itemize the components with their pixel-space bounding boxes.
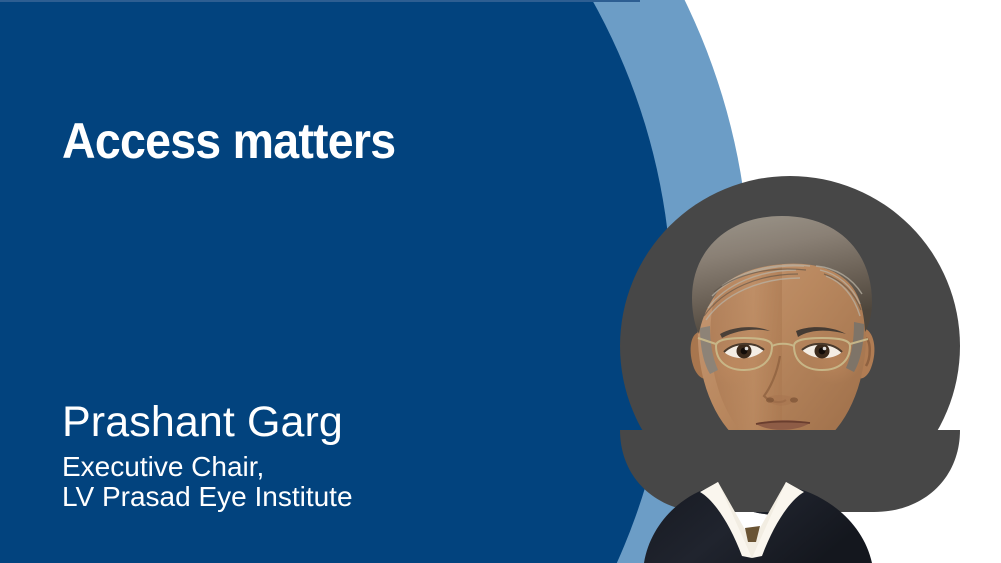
speaker-role-line-2: LV Prasad Eye Institute [62, 482, 353, 512]
page-title: Access matters [62, 112, 395, 170]
speaker-name: Prashant Garg [62, 398, 343, 447]
speaker-role-line-1: Executive Chair, [62, 452, 353, 482]
top-accent-line [0, 0, 640, 2]
shoulders-shape [620, 430, 960, 563]
portrait-shoulders-overflow [620, 430, 960, 563]
speaker-card: Access matters Prashant Garg Executive C… [0, 0, 1001, 563]
speaker-role: Executive Chair, LV Prasad Eye Institute [62, 452, 353, 512]
